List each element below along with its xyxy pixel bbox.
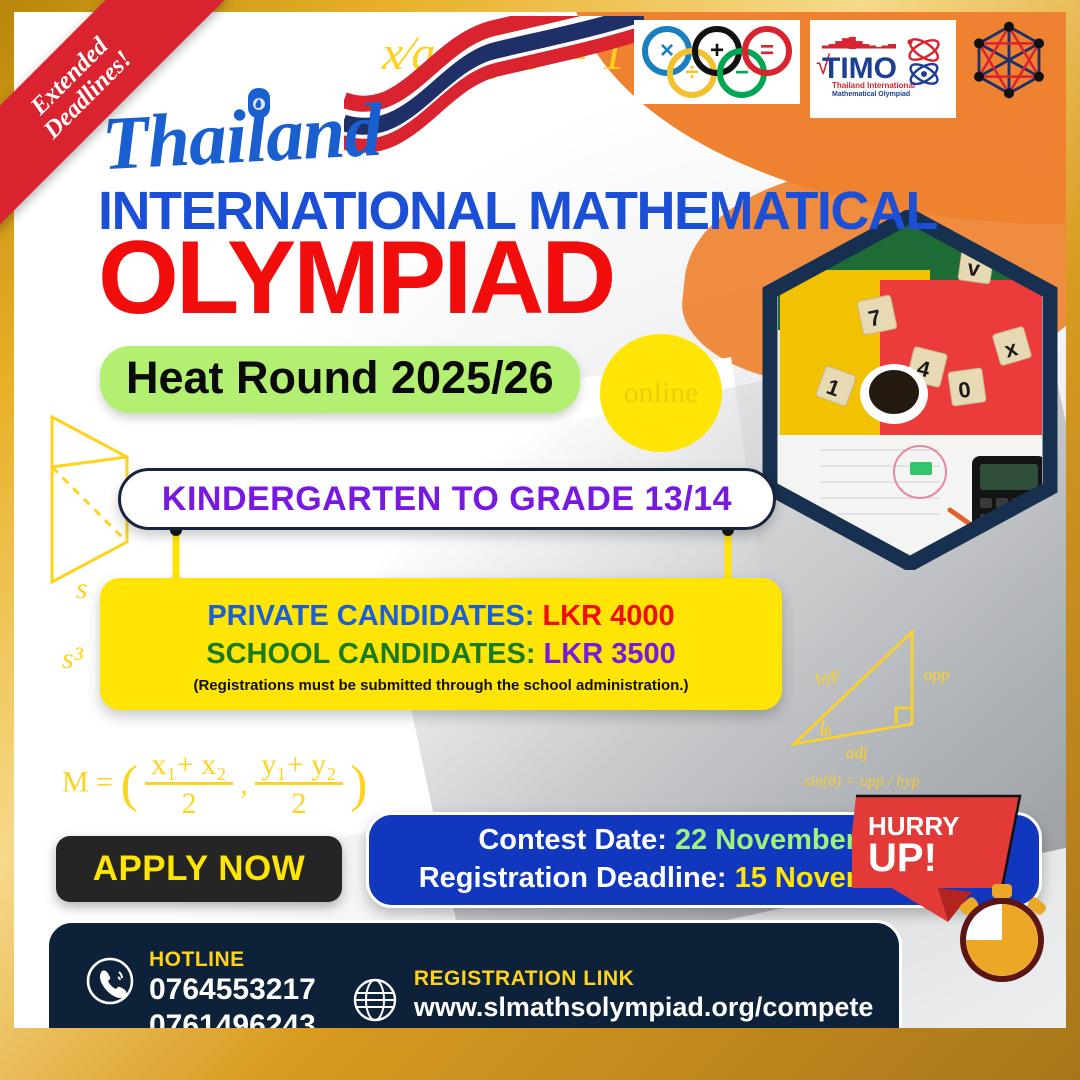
hotline-number-2[interactable]: 0761496243 xyxy=(149,1008,316,1028)
private-candidates-label: PRIVATE CANDIDATES: xyxy=(207,600,534,632)
midpoint-num-x: x₁+ x₂ xyxy=(145,748,232,785)
private-candidates-value: LKR 4000 xyxy=(542,600,674,632)
midpoint-formula-decoration: M = ( x₁+ x₂ 2 , y₁+ y₂ 2 ) xyxy=(62,748,367,821)
ring-equals-icon: = xyxy=(742,26,792,76)
hotline-block: HOTLINE 0764553217 0761496243 xyxy=(85,948,316,1028)
contest-date-label: Contest Date: xyxy=(478,824,667,856)
midpoint-M: M = xyxy=(62,765,113,798)
pricing-note: (Registrations must be submitted through… xyxy=(193,677,688,694)
hurry-line2: UP! xyxy=(868,839,959,877)
school-candidates-label: SCHOOL CANDIDATES: xyxy=(206,638,535,670)
hotline-number-1[interactable]: 0764553217 xyxy=(149,972,316,1008)
deadline-label: Registration Deadline: xyxy=(419,862,727,894)
registration-link-url[interactable]: www.slmathsolympiad.org/compete xyxy=(414,991,874,1023)
grade-range-label: KINDERGARTEN TO GRADE 13/14 xyxy=(162,480,732,519)
timo-atom-icon xyxy=(900,30,946,92)
private-candidates-row: PRIVATE CANDIDATES: LKR 4000 xyxy=(207,598,674,635)
grade-range-banner: KINDERGARTEN TO GRADE 13/14 xyxy=(118,468,776,530)
online-badge: online xyxy=(600,334,722,452)
school-candidates-value: LKR 3500 xyxy=(544,638,676,670)
hexagon-graph-logo xyxy=(966,20,1052,100)
label-hyp: hyp xyxy=(812,663,842,690)
timo-skyline-icon: ▂▃▅▇█▅▃▂▁▂▃ xyxy=(822,38,895,49)
registration-link-block: REGISTRATION LINK www.slmathsolympiad.or… xyxy=(350,967,874,1025)
timo-subtitle-line2: Mathematical Olympiad xyxy=(832,91,910,98)
registration-link-label: REGISTRATION LINK xyxy=(414,967,874,991)
stopwatch-icon xyxy=(948,882,1056,986)
hotline-label: HOTLINE xyxy=(149,948,316,972)
olympic-math-rings-logo: × ÷ + − = xyxy=(634,20,800,104)
phone-icon xyxy=(85,956,135,1006)
poster-canvas: s s³ x⁄a + y⁄b = 1 × ÷ + − = xyxy=(14,12,1066,1028)
school-candidates-row: SCHOOL CANDIDATES: LKR 3500 xyxy=(206,636,675,673)
trig-triangle-decoration: hyp opp adj θ sin(θ) = opp / hyp xyxy=(784,624,1054,794)
label-theta: θ xyxy=(824,725,831,740)
thai-lantern-icon xyxy=(242,84,276,130)
contact-bar: HOTLINE 0764553217 0761496243 REGISTRATI… xyxy=(46,920,902,1028)
logo-strip: × ÷ + − = ▂▃▅▇█▅▃▂▁▂▃ √ TIMO Thailand In… xyxy=(634,20,1052,118)
poster-root: s s³ x⁄a + y⁄b = 1 × ÷ + − = xyxy=(0,0,1080,1080)
hurry-up-badge: HURRY UP! xyxy=(852,792,1052,972)
apply-now-button[interactable]: APPLY NOW xyxy=(56,836,342,902)
page-title-line3: OLYMPIAD xyxy=(98,226,613,330)
stationery-photo-hexagon: 7 4 0 1 x v xyxy=(760,210,1060,570)
midpoint-den-y: 2 xyxy=(255,785,342,821)
globe-icon xyxy=(350,975,400,1025)
cube-label-s3: s³ xyxy=(62,642,83,676)
thai-flag-ribbon xyxy=(344,16,644,176)
round-badge: Heat Round 2025/26 xyxy=(100,346,580,413)
pricing-panel: PRIVATE CANDIDATES: LKR 4000 SCHOOL CAND… xyxy=(100,578,782,710)
online-badge-label: online xyxy=(624,376,699,410)
cube-label-s: s xyxy=(76,572,88,606)
label-sin-formula: sin(θ) = opp / hyp xyxy=(804,773,920,790)
hurry-up-text: HURRY UP! xyxy=(868,814,959,877)
midpoint-num-y: y₁+ y₂ xyxy=(255,748,342,785)
timo-logo: ▂▃▅▇█▅▃▂▁▂▃ √ TIMO Thailand Internationa… xyxy=(810,20,956,118)
label-opp: opp xyxy=(924,665,950,684)
label-adj: adj xyxy=(846,743,868,762)
midpoint-den-x: 2 xyxy=(145,785,232,821)
apply-now-label: APPLY NOW xyxy=(93,849,306,889)
